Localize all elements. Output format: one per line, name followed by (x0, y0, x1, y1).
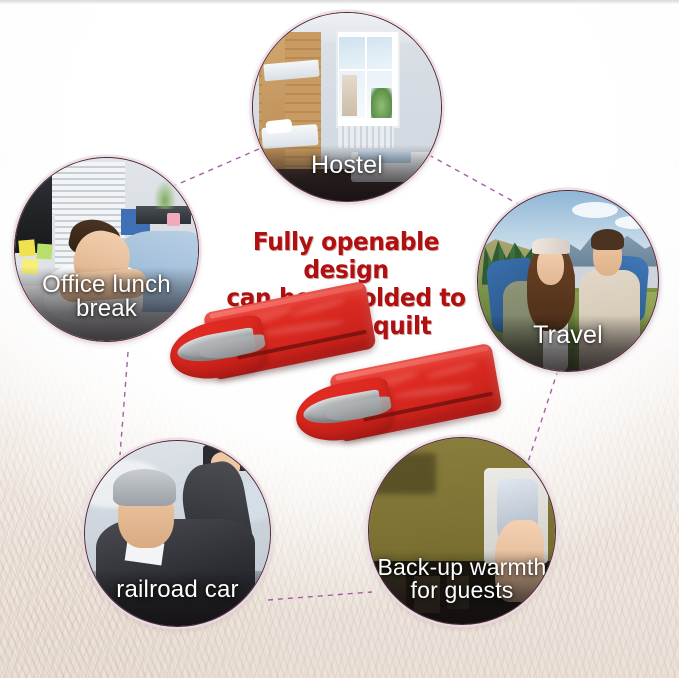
office-sticky-note-green (36, 244, 52, 260)
use-case-circle-railroad-car[interactable]: railroad car (84, 440, 271, 627)
shell-wrinkle-2 (261, 318, 345, 338)
railroad-man-hair (113, 469, 176, 506)
hostel-window-mullion-vertical (365, 37, 367, 118)
headline-line-1: Fully openable design (207, 228, 486, 284)
office-plant (154, 180, 176, 209)
connector-office-railroad (120, 352, 128, 455)
office-pink-card (167, 213, 180, 226)
caption-hostel-line1: Hostel (253, 153, 441, 179)
hostel-tree-outside (371, 88, 392, 118)
caption-railroad-car: railroad car (85, 570, 270, 626)
product-image-sleeping-bags (168, 300, 508, 460)
caption-railroad-line1: railroad car (85, 578, 270, 602)
connector-railroad-guests (268, 592, 372, 600)
shell-wrinkle-6 (426, 360, 478, 380)
caption-hostel: Hostel (253, 145, 441, 201)
hostel-window-mullion-horizontal (339, 69, 392, 71)
travel-man-hair (591, 229, 623, 251)
caption-guests-line1: Back-up warmth (369, 556, 555, 579)
travel-woman-headband (532, 238, 570, 254)
travel-cloud-2 (615, 216, 651, 229)
caption-guests-line2: for guests (369, 579, 555, 602)
office-sticky-note-yellow (18, 240, 36, 258)
caption-back-up-warmth: Back-up warmth for guests (369, 550, 555, 624)
use-case-circle-hostel[interactable]: Hostel (252, 12, 442, 202)
caption-office-line1: Office lunch (15, 273, 198, 297)
infographic-canvas: Hostel Office lunch break (0, 0, 679, 678)
travel-cloud-1 (572, 202, 619, 218)
use-case-circle-back-up-warmth-for-guests[interactable]: Back-up warmth for guests (368, 437, 556, 625)
hostel-building-outside (342, 75, 357, 116)
